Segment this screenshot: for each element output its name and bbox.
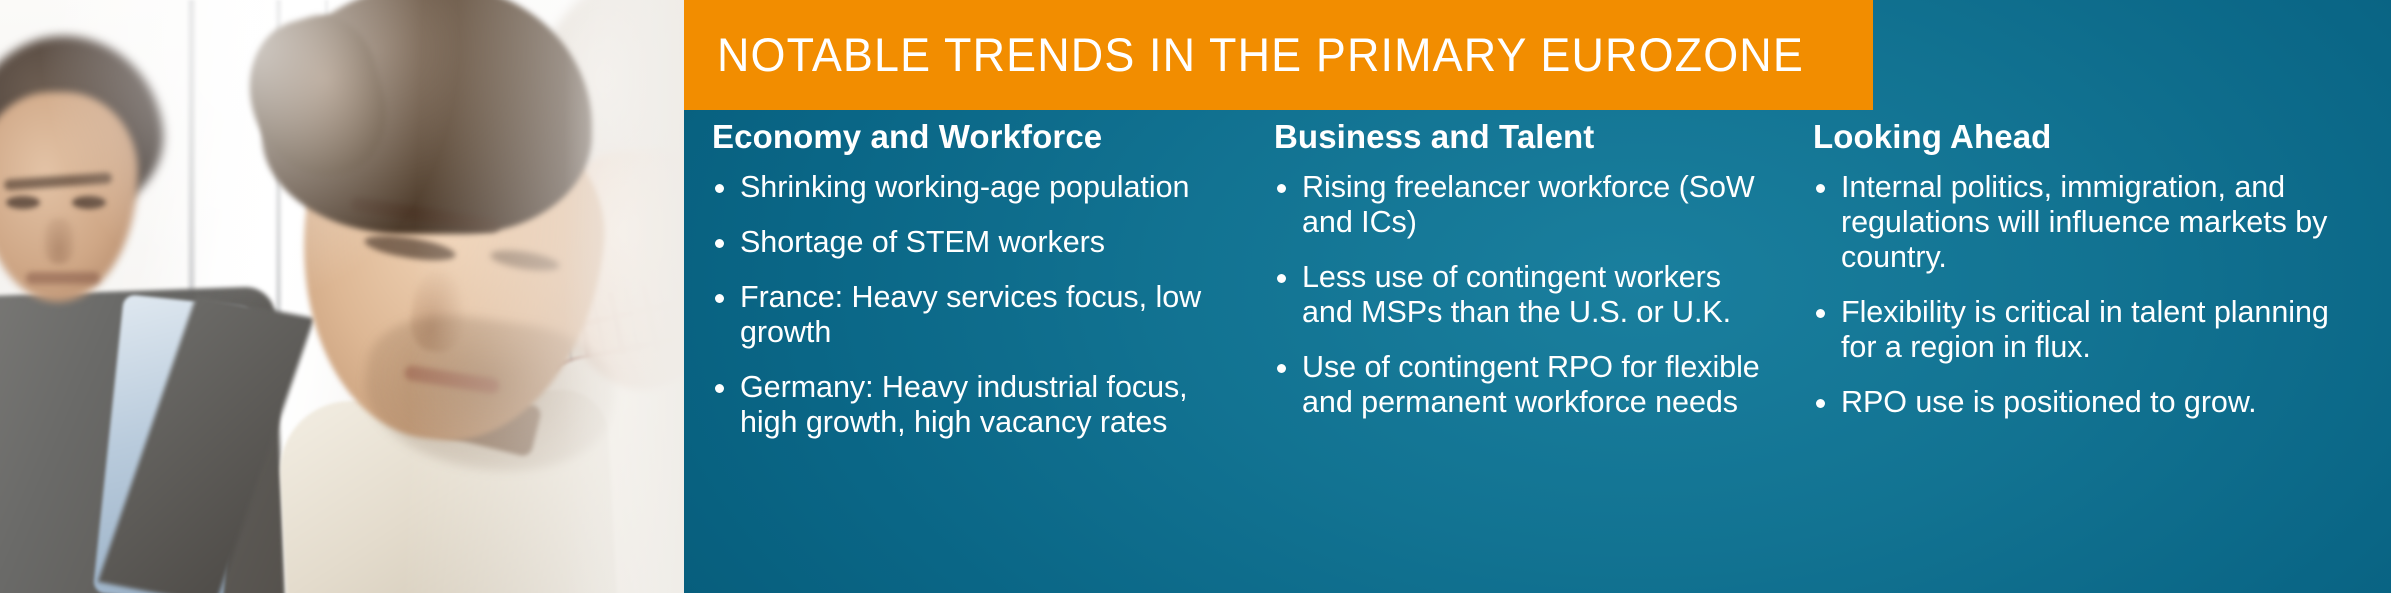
- bullet-list: Shrinking working-age population Shortag…: [712, 170, 1248, 440]
- list-item: Germany: Heavy industrial focus, high gr…: [712, 370, 1248, 440]
- column-business-and-talent: Business and Talent Rising freelancer wo…: [1262, 110, 1786, 420]
- person-background-eye: [6, 196, 40, 209]
- column-heading: Economy and Workforce: [712, 118, 1248, 156]
- list-item: France: Heavy services focus, low growth: [712, 280, 1248, 350]
- list-item-text: Flexibility is critical in talent planni…: [1841, 295, 2329, 364]
- list-item: RPO use is positioned to grow.: [1813, 385, 2361, 420]
- bullet-dot-icon: [715, 294, 724, 303]
- bullet-dot-icon: [1816, 399, 1825, 408]
- list-item-text: Germany: Heavy industrial focus, high gr…: [740, 370, 1188, 439]
- list-item: Rising freelancer workforce (SoW and ICs…: [1274, 170, 1770, 240]
- columns-container: Economy and Workforce Shrinking working-…: [684, 110, 2391, 593]
- bullet-list: Internal politics, immigration, and regu…: [1813, 170, 2361, 420]
- column-heading: Business and Talent: [1274, 118, 1770, 156]
- infographic-banner: NOTABLE TRENDS IN THE PRIMARY EUROZONE E…: [0, 0, 2391, 593]
- column-looking-ahead: Looking Ahead Internal politics, immigra…: [1786, 110, 2391, 420]
- list-item-text: Shrinking working-age population: [740, 170, 1189, 204]
- person-background-mouth: [26, 272, 100, 284]
- bullet-dot-icon: [715, 384, 724, 393]
- column-heading: Looking Ahead: [1813, 118, 2361, 156]
- bullet-dot-icon: [1277, 364, 1286, 373]
- people-photo: [0, 0, 684, 593]
- list-item-text: RPO use is positioned to grow.: [1841, 385, 2257, 419]
- list-item-text: France: Heavy services focus, low growth: [740, 280, 1201, 349]
- bullet-dot-icon: [1277, 274, 1286, 283]
- list-item-text: Use of contingent RPO for flexible and p…: [1302, 350, 1760, 419]
- list-item: Flexibility is critical in talent planni…: [1813, 295, 2361, 365]
- bullet-dot-icon: [715, 184, 724, 193]
- person-background-eye: [72, 196, 106, 209]
- bullet-list: Rising freelancer workforce (SoW and ICs…: [1274, 170, 1770, 420]
- list-item: Internal politics, immigration, and regu…: [1813, 170, 2361, 275]
- list-item-text: Internal politics, immigration, and regu…: [1841, 170, 2327, 274]
- bullet-dot-icon: [715, 239, 724, 248]
- bullet-dot-icon: [1816, 184, 1825, 193]
- content-panel: NOTABLE TRENDS IN THE PRIMARY EUROZONE E…: [684, 0, 2391, 593]
- list-item: Shortage of STEM workers: [712, 225, 1248, 260]
- list-item: Shrinking working-age population: [712, 170, 1248, 205]
- page-title: NOTABLE TRENDS IN THE PRIMARY EUROZONE: [717, 13, 1804, 97]
- list-item-text: Shortage of STEM workers: [740, 225, 1105, 259]
- bullet-dot-icon: [1816, 309, 1825, 318]
- list-item: Less use of contingent workers and MSPs …: [1274, 260, 1770, 330]
- title-bar: NOTABLE TRENDS IN THE PRIMARY EUROZONE: [684, 0, 1873, 110]
- list-item: Use of contingent RPO for flexible and p…: [1274, 350, 1770, 420]
- column-economy-and-workforce: Economy and Workforce Shrinking working-…: [684, 110, 1262, 440]
- list-item-text: Less use of contingent workers and MSPs …: [1302, 260, 1731, 329]
- person-background-nose: [44, 218, 74, 264]
- bullet-dot-icon: [1277, 184, 1286, 193]
- list-item-text: Rising freelancer workforce (SoW and ICs…: [1302, 170, 1755, 239]
